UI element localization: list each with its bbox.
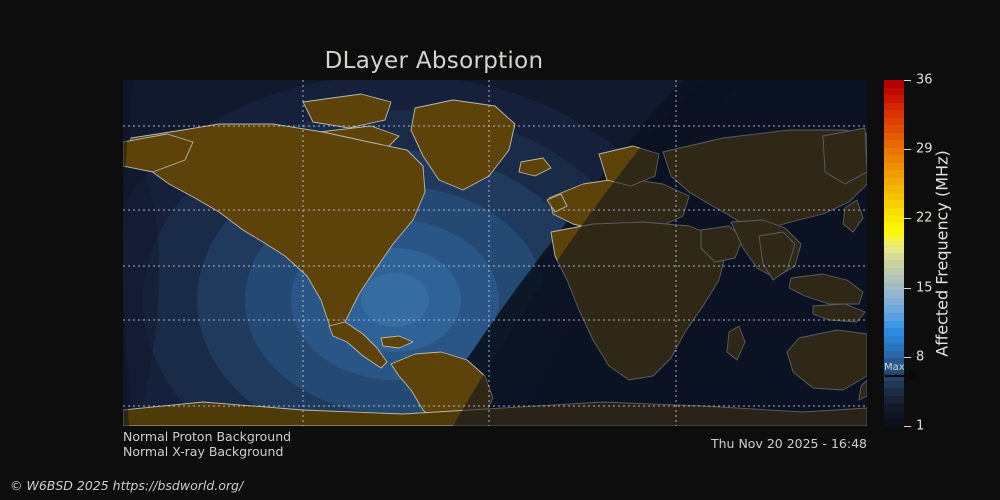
colorbar-band	[884, 351, 904, 359]
colorbar-band	[884, 283, 904, 291]
colorbar-band	[884, 215, 904, 223]
colorbar-band	[884, 80, 904, 88]
colorbar-band	[884, 268, 904, 276]
colorbar-band	[884, 290, 904, 298]
colorbar-band	[884, 178, 904, 186]
colorbar-band	[884, 185, 904, 193]
colorbar-tick	[904, 218, 911, 219]
colorbar-band	[884, 305, 904, 313]
colorbar-band	[884, 163, 904, 171]
colorbar-band	[884, 110, 904, 118]
colorbar-band	[884, 148, 904, 156]
colorbar-band	[884, 140, 904, 148]
world-map[interactable]	[123, 80, 867, 426]
colorbar-band	[884, 343, 904, 351]
colorbar-band	[884, 403, 904, 411]
colorbar-band	[884, 321, 904, 329]
colorbar-band	[884, 88, 904, 96]
max-marker-label: Max	[884, 363, 905, 373]
colorbar-tick-label: 1	[916, 419, 924, 434]
colorbar-band	[884, 223, 904, 231]
colorbar-band	[884, 133, 904, 141]
colorbar-tick	[904, 149, 911, 150]
colorbar-band	[884, 298, 904, 306]
colorbar-band	[884, 388, 904, 396]
dlayer-absorption-screen: DLayer Absorption	[0, 0, 1000, 500]
colorbar-band	[884, 418, 904, 426]
colorbar-band	[884, 328, 904, 336]
max-marker-arrow-shaft	[885, 375, 911, 377]
colorbar-band	[884, 208, 904, 216]
colorbar-band	[884, 193, 904, 201]
colorbar-band	[884, 95, 904, 103]
proton-background-text: Normal Proton Background	[123, 429, 291, 444]
max-marker-arrow-head	[909, 370, 917, 380]
colorbar-band	[884, 200, 904, 208]
colorbar-band	[884, 230, 904, 238]
colorbar-band	[884, 260, 904, 268]
colorbar-tick	[904, 357, 911, 358]
xray-background-text: Normal X-ray Background	[123, 444, 291, 459]
colorbar-tick	[904, 288, 911, 289]
colorbar-band	[884, 155, 904, 163]
colorbar-band	[884, 396, 904, 404]
background-conditions: Normal Proton Background Normal X-ray Ba…	[123, 429, 291, 459]
colorbar-band	[884, 253, 904, 261]
timestamp: Thu Nov 20 2025 - 16:48	[568, 436, 867, 451]
colorbar-tick	[904, 80, 911, 81]
colorbar-band	[884, 103, 904, 111]
page-title: DLayer Absorption	[0, 48, 868, 74]
colorbar-band	[884, 238, 904, 246]
colorbar-band	[884, 125, 904, 133]
colorbar-band	[884, 336, 904, 344]
colorbar-band	[884, 245, 904, 253]
map-canvas	[123, 80, 867, 426]
colorbar-band	[884, 275, 904, 283]
colorbar-tick	[904, 426, 911, 427]
colorbar-band	[884, 313, 904, 321]
copyright-footer: © W6BSD 2025 https://bsdworld.org/	[10, 478, 243, 493]
colorbar-band	[884, 411, 904, 419]
colorbar-band	[884, 118, 904, 126]
max-marker: Max	[884, 363, 944, 387]
colorbar-band	[884, 170, 904, 178]
colorbar-axis-label-text: Affected Frequency (MHz)	[933, 150, 952, 356]
